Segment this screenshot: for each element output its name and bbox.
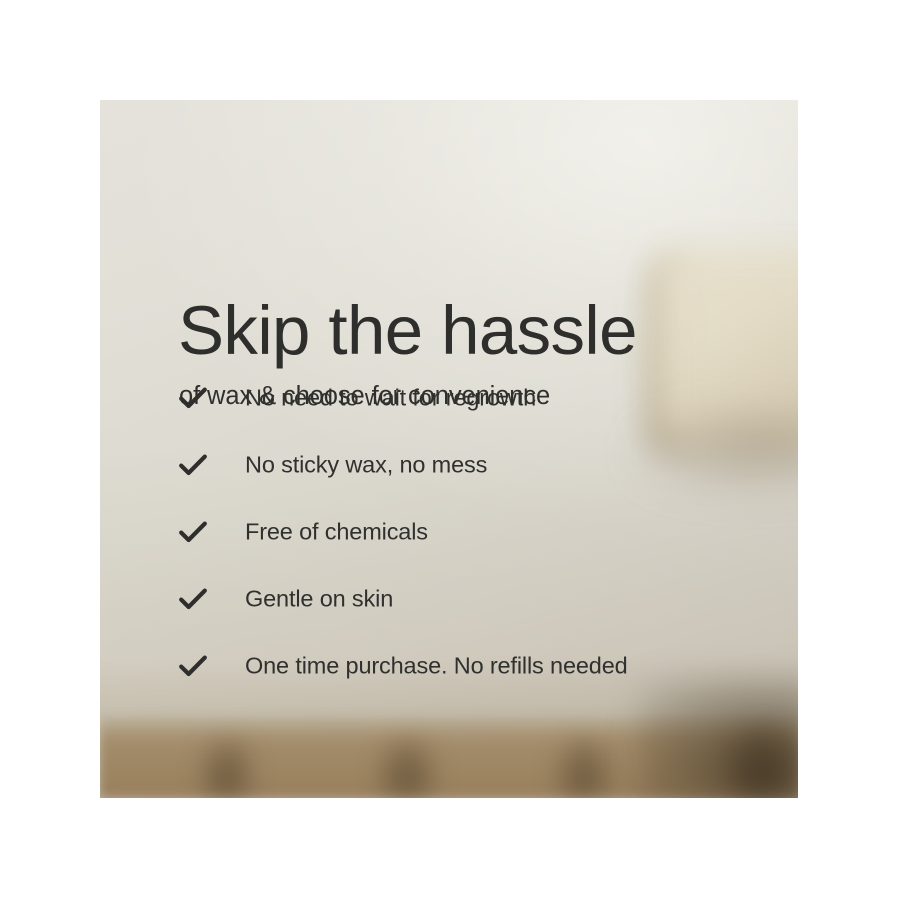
- promo-content: Skip the hassle of wax & choose for conv…: [100, 100, 798, 798]
- benefits-list: No need to wait for regrowth No sticky w…: [100, 364, 798, 699]
- benefit-label: Free of chemicals: [245, 520, 428, 544]
- check-icon: [178, 584, 208, 614]
- benefit-label: No sticky wax, no mess: [245, 453, 487, 477]
- check-icon: [178, 450, 208, 480]
- check-icon: [178, 517, 208, 547]
- promo-headline: Skip the hassle: [178, 296, 637, 365]
- benefit-item: No sticky wax, no mess: [100, 431, 798, 498]
- promo-image-panel: Skip the hassle of wax & choose for conv…: [100, 100, 798, 798]
- check-icon: [178, 383, 208, 413]
- page-canvas: Skip the hassle of wax & choose for conv…: [0, 0, 900, 900]
- benefit-item: No need to wait for regrowth: [100, 364, 798, 431]
- benefit-item: Free of chemicals: [100, 498, 798, 565]
- benefit-label: One time purchase. No refills needed: [245, 654, 628, 678]
- benefit-item: One time purchase. No refills needed: [100, 632, 798, 699]
- benefit-label: Gentle on skin: [245, 587, 393, 611]
- check-icon: [178, 651, 208, 681]
- benefit-item: Gentle on skin: [100, 565, 798, 632]
- benefit-label: No need to wait for regrowth: [245, 386, 536, 410]
